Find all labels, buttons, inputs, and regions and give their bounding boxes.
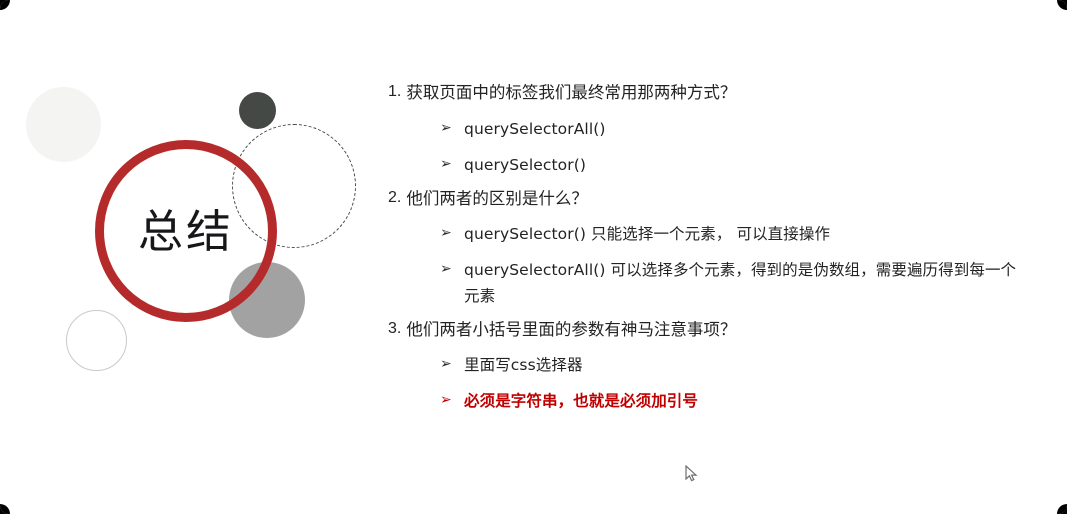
arrow-bullet-icon: ➢ xyxy=(440,118,464,139)
answer-bullet: ➢ querySelector() 只能选择一个元素， 可以直接操作 xyxy=(388,217,1028,253)
answer-bullet-highlighted: ➢ 必须是字符串，也就是必须加引号 xyxy=(388,384,1028,420)
answer-text: 必须是字符串，也就是必须加引号 xyxy=(464,389,1028,414)
arrow-bullet-icon: ➢ xyxy=(440,390,464,411)
arrow-bullet-icon: ➢ xyxy=(440,259,464,280)
window-corner-bottom-right xyxy=(1057,504,1067,514)
answer-bullet: ➢ querySelectorAll() xyxy=(388,112,1028,148)
pale-disc-shape xyxy=(26,87,101,162)
answer-text: querySelector() xyxy=(464,153,1028,178)
question-text: 他们两者小括号里面的参数有神马注意事项？ xyxy=(406,317,1028,343)
presentation-slide: 总结 1. 获取页面中的标签我们最终常用那两种方式？ ➢ querySelect… xyxy=(0,0,1067,514)
arrow-bullet-icon: ➢ xyxy=(440,223,464,244)
arrow-bullet-icon: ➢ xyxy=(440,354,464,375)
question-text: 他们两者的区别是什么？ xyxy=(406,186,1028,212)
dark-disc-shape xyxy=(239,92,276,129)
question-heading: 2. 他们两者的区别是什么？ xyxy=(388,186,1028,218)
answer-bullet-list: ➢ querySelector() 只能选择一个元素， 可以直接操作 ➢ que… xyxy=(388,217,1028,314)
answer-text: querySelector() 只能选择一个元素， 可以直接操作 xyxy=(464,222,1028,247)
question-item: 1. 获取页面中的标签我们最终常用那两种方式？ ➢ querySelectorA… xyxy=(388,80,1028,184)
answer-bullet-list: ➢ 里面写css选择器 ➢ 必须是字符串，也就是必须加引号 xyxy=(388,348,1028,420)
answer-bullet: ➢ querySelector() xyxy=(388,148,1028,184)
question-number: 1. xyxy=(388,80,401,105)
answer-text: querySelectorAll() xyxy=(464,117,1028,142)
question-item: 2. 他们两者的区别是什么？ ➢ querySelector() 只能选择一个元… xyxy=(388,186,1028,315)
window-corner-bottom-left xyxy=(0,504,10,514)
question-list: 1. 获取页面中的标签我们最终常用那两种方式？ ➢ querySelectorA… xyxy=(388,80,1028,422)
summary-badge-label: 总结 xyxy=(95,140,277,322)
answer-bullet-list: ➢ querySelectorAll() ➢ querySelector() xyxy=(388,112,1028,184)
arrow-bullet-icon: ➢ xyxy=(440,154,464,175)
answer-text: querySelectorAll() 可以选择多个元素，得到的是伪数组，需要遍历… xyxy=(464,258,1028,308)
answer-bullet: ➢ 里面写css选择器 xyxy=(388,348,1028,384)
question-number: 2. xyxy=(388,186,401,211)
mouse-cursor-icon xyxy=(685,465,699,483)
window-corner-top-right xyxy=(1057,0,1067,10)
question-number: 3. xyxy=(388,317,401,342)
question-heading: 3. 他们两者小括号里面的参数有神马注意事项？ xyxy=(388,317,1028,349)
question-heading: 1. 获取页面中的标签我们最终常用那两种方式？ xyxy=(388,80,1028,112)
answer-bullet: ➢ querySelectorAll() 可以选择多个元素，得到的是伪数组，需要… xyxy=(388,253,1028,314)
question-text: 获取页面中的标签我们最终常用那两种方式？ xyxy=(406,80,1028,106)
question-item: 3. 他们两者小括号里面的参数有神马注意事项？ ➢ 里面写css选择器 ➢ 必须… xyxy=(388,317,1028,421)
decorative-graphic: 总结 xyxy=(0,0,380,420)
answer-text: 里面写css选择器 xyxy=(464,353,1028,378)
